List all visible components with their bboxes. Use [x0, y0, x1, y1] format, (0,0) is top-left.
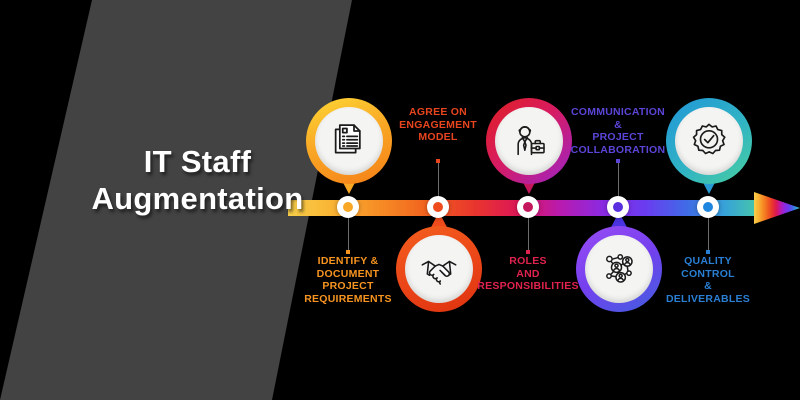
- step-label-line: PROJECT: [288, 280, 408, 293]
- timeline-marker-dot-3: [523, 202, 533, 212]
- timeline-marker-5[interactable]: [697, 196, 719, 218]
- page-title-line-2: Augmentation: [55, 180, 340, 217]
- timeline-marker-dot-1: [343, 202, 353, 212]
- step-circle-inner-4: [585, 235, 653, 303]
- step-label-line: AND: [468, 268, 588, 281]
- step-label-line: REQUIREMENTS: [288, 293, 408, 306]
- timeline-marker-dot-5: [703, 202, 713, 212]
- timeline-marker-dot-2: [433, 202, 443, 212]
- connector-node-5: [706, 250, 710, 254]
- step-label-agree-on-engagement-model: AGREE ON ENGAGEMENT MODEL: [378, 106, 498, 144]
- step-label-line: AGREE ON: [378, 106, 498, 119]
- step-label-line: ROLES: [468, 255, 588, 268]
- step-label-communication-and-project-collaboration: COMMUNICATION & PROJECT COLLABORATION: [558, 106, 678, 156]
- connector-node-1: [346, 250, 350, 254]
- timeline-marker-dot-4: [613, 202, 623, 212]
- step-circle-inner-3: [495, 107, 563, 175]
- infographic-canvas: IT Staff Augmentation: [0, 0, 800, 400]
- step-label-line: IDENTIFY &: [288, 255, 408, 268]
- step-label-line: COMMUNICATION: [558, 106, 678, 119]
- step-label-line: CONTROL: [648, 268, 768, 281]
- step-label-line: PROJECT: [558, 131, 678, 144]
- connector-node-2: [436, 159, 440, 163]
- quality-badge-icon: [689, 121, 729, 161]
- network-people-icon: [599, 249, 639, 289]
- timeline-bar: [288, 186, 800, 228]
- timeline-marker-4[interactable]: [607, 196, 629, 218]
- step-label-line: MODEL: [378, 131, 498, 144]
- step-circle-inner-5: [675, 107, 743, 175]
- step-label-line: DELIVERABLES: [648, 293, 768, 306]
- step-label-line: &: [648, 280, 768, 293]
- step-label-identify-document-project-requirements: IDENTIFY & DOCUMENT PROJECT REQUIREMENTS: [288, 255, 408, 305]
- step-label-line: RESPONSIBILITIES: [468, 280, 588, 293]
- connector-node-4: [616, 159, 620, 163]
- step-label-line: DOCUMENT: [288, 268, 408, 281]
- step-label-quality-control-and-deliverables: QUALITY CONTROL & DELIVERABLES: [648, 255, 768, 305]
- timeline-marker-2[interactable]: [427, 196, 449, 218]
- connector-node-3: [526, 250, 530, 254]
- timeline-marker-3[interactable]: [517, 196, 539, 218]
- step-circle-quality-control-and-deliverables[interactable]: [666, 98, 752, 184]
- page-title-line-1: IT Staff: [55, 143, 340, 180]
- step-label-line: &: [558, 119, 678, 132]
- page-title: IT Staff Augmentation: [55, 143, 340, 217]
- handshake-icon: [419, 249, 459, 289]
- step-label-line: QUALITY: [648, 255, 768, 268]
- step-circle-inner-2: [405, 235, 473, 303]
- step-label-line: COLLABORATION: [558, 144, 678, 157]
- timeline-marker-1[interactable]: [337, 196, 359, 218]
- businessman-icon: [509, 121, 549, 161]
- step-label-line: ENGAGEMENT: [378, 119, 498, 132]
- step-label-roles-and-responsibilities: ROLES AND RESPONSIBILITIES: [468, 255, 588, 293]
